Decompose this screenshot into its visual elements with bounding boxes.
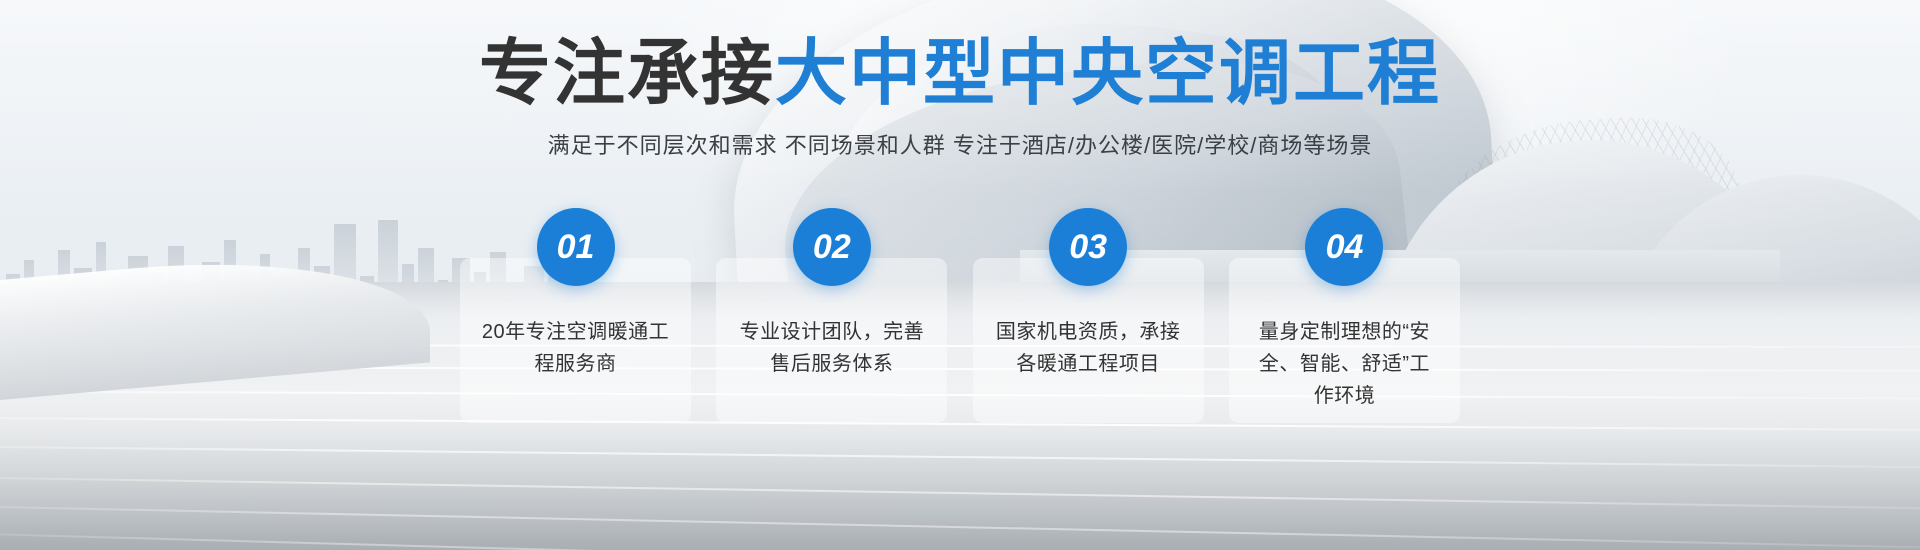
feature-card-01[interactable]: 01 20年专注空调暖通工程服务商 [460,258,691,423]
feature-card-03[interactable]: 03 国家机电资质，承接各暖通工程项目 [973,258,1204,423]
feature-card-04[interactable]: 04 量身定制理想的“安全、智能、舒适”工作环境 [1229,258,1460,423]
badge-label: 02 [813,230,851,264]
feature-card-list: 01 20年专注空调暖通工程服务商 02 专业设计团队，完善售后服务体系 03 … [460,258,1460,423]
badge-number-02: 02 [793,208,871,286]
badge-label: 01 [557,230,595,264]
badge-number-03: 03 [1049,208,1127,286]
badge-number-01: 01 [537,208,615,286]
feature-card-02[interactable]: 02 专业设计团队，完善售后服务体系 [716,258,947,423]
banner-content: 专注承接大中型中央空调工程 满足于不同层次和需求 不同场景和人群 专注于酒店/办… [0,0,1920,550]
hero-banner: 专注承接大中型中央空调工程 满足于不同层次和需求 不同场景和人群 专注于酒店/办… [0,0,1920,550]
badge-number-04: 04 [1305,208,1383,286]
headline-lead: 专注承接 [479,34,775,114]
feature-card-text: 专业设计团队，完善售后服务体系 [736,316,927,380]
feature-card-text: 国家机电资质，承接各暖通工程项目 [993,316,1184,380]
badge-label: 04 [1326,230,1364,264]
headline: 专注承接大中型中央空调工程 [0,38,1920,110]
subtitle: 满足于不同层次和需求 不同场景和人群 专注于酒店/办公楼/医院/学校/商场等场景 [0,128,1920,160]
feature-card-text: 20年专注空调暖通工程服务商 [480,316,671,380]
headline-accent: 大中型中央空调工程 [775,34,1441,114]
badge-label: 03 [1069,230,1107,264]
feature-card-text: 量身定制理想的“安全、智能、舒适”工作环境 [1249,316,1440,412]
